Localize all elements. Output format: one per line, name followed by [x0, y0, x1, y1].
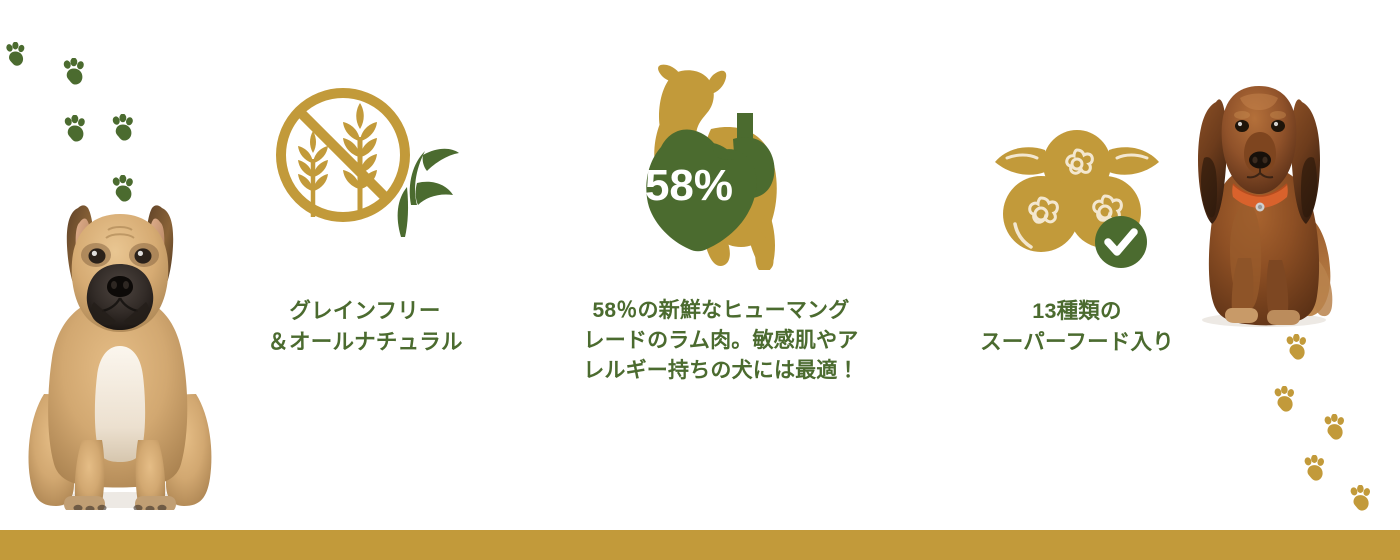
paw-print-icon [62, 115, 89, 144]
features-banner: グレインフリー ＆オールナチュラル [0, 0, 1400, 560]
lamb-heart-percent-icon: 58% [621, 55, 821, 270]
paw-print-icon [4, 42, 28, 68]
paw-print-icon [1348, 485, 1374, 513]
paw-print-icon [61, 58, 88, 87]
paw-print-icon [1272, 386, 1298, 414]
french-bulldog-photo [20, 178, 220, 510]
feature-caption: グレインフリー ＆オールナチュラル [267, 296, 462, 357]
paw-print-icon [110, 114, 137, 143]
percent-label: 58% [645, 161, 733, 210]
paw-print-icon [1284, 334, 1310, 362]
feature-caption: 13種類の スーパーフード入り [980, 296, 1174, 357]
paw-print-icon [1302, 455, 1328, 483]
feature-fresh-lamb: 58% 58％の新鮮なヒューマング レードのラム肉。敏感肌やア レルギー持ちの犬… [556, 55, 886, 385]
feature-grain-free: グレインフリー ＆オールナチュラル [210, 55, 520, 357]
no-wheat-leaf-icon [265, 55, 465, 270]
bottom-accent-bar [0, 530, 1400, 560]
paw-print-icon [1322, 414, 1348, 442]
feature-list: グレインフリー ＆オールナチュラル [200, 55, 1250, 385]
berries-check-icon [987, 55, 1167, 270]
feature-caption: 58％の新鮮なヒューマング レードのラム肉。敏感肌やア レルギー持ちの犬には最適… [583, 296, 859, 385]
feature-superfoods: 13種類の スーパーフード入り [922, 55, 1232, 357]
